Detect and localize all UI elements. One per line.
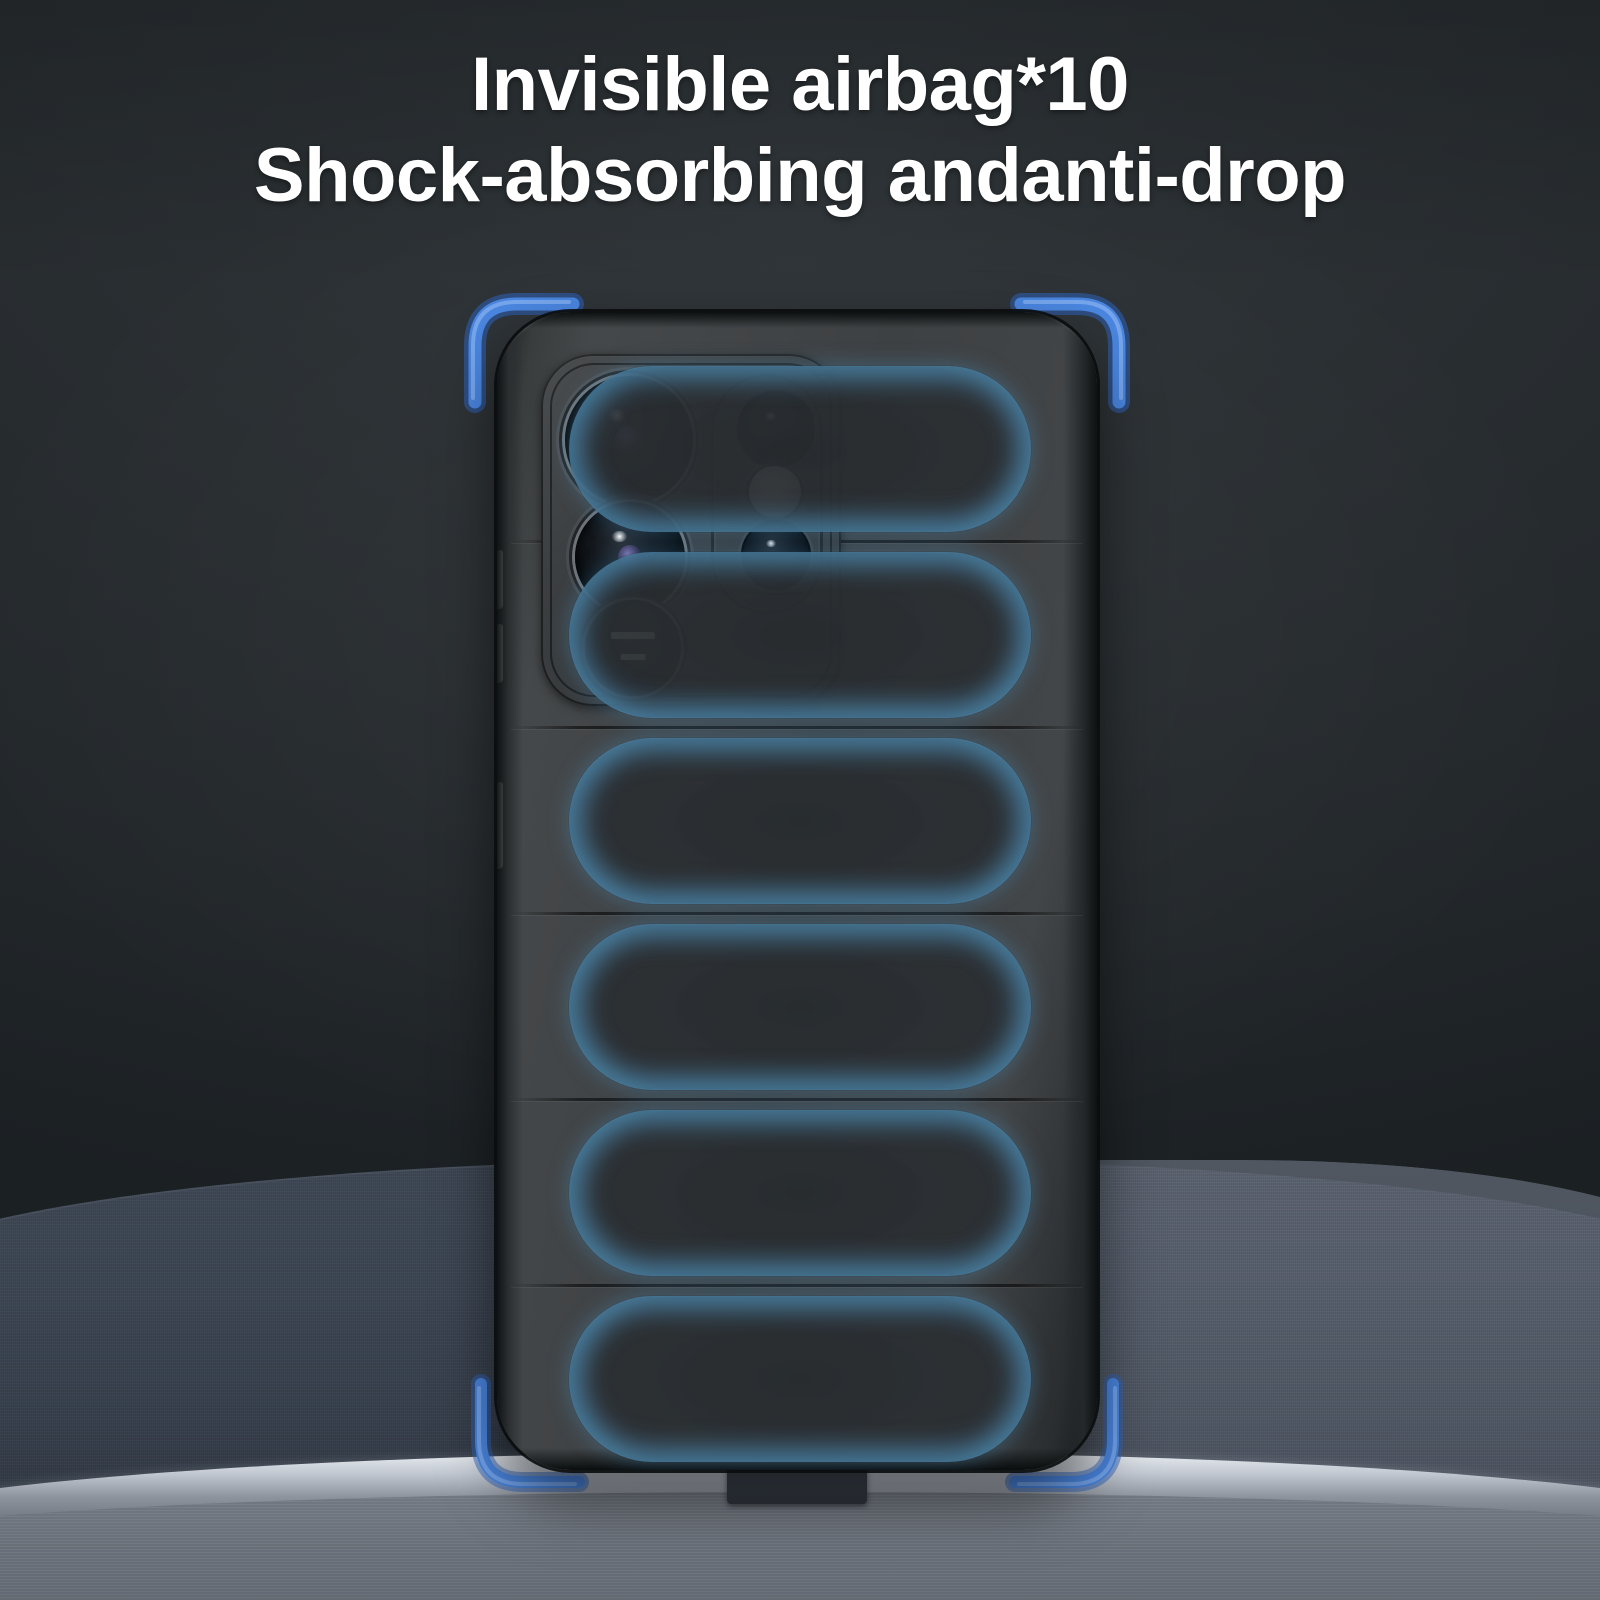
airbag-pill-6 (569, 1296, 1031, 1462)
case-edge-left (497, 312, 523, 1470)
volume-up-button[interactable] (497, 550, 503, 608)
airbag-pill-1 (569, 366, 1031, 532)
volume-down-button[interactable] (497, 624, 503, 682)
phone-case-product (497, 312, 1097, 1470)
table-front-face (0, 1492, 1600, 1600)
product-marketing-banner: Invisible airbag*10 Shock-absorbing anda… (0, 0, 1600, 1600)
headline: Invisible airbag*10 Shock-absorbing anda… (0, 42, 1600, 219)
case-edge-right (1063, 312, 1097, 1470)
case-groove-2 (511, 726, 1083, 729)
airbag-pill-5 (569, 1110, 1031, 1276)
phone-back-with-case (497, 312, 1097, 1470)
case-groove-5 (511, 1284, 1083, 1287)
airbag-pill-3 (569, 738, 1031, 904)
case-edge-top (497, 312, 1097, 328)
power-button[interactable] (497, 782, 503, 868)
case-groove-4 (511, 1098, 1083, 1101)
case-groove-3 (511, 912, 1083, 915)
airbag-pill-4 (569, 924, 1031, 1090)
airbag-pill-2 (569, 552, 1031, 718)
headline-line-1: Invisible airbag*10 (0, 42, 1600, 129)
headline-line-2: Shock-absorbing andanti-drop (0, 133, 1600, 220)
